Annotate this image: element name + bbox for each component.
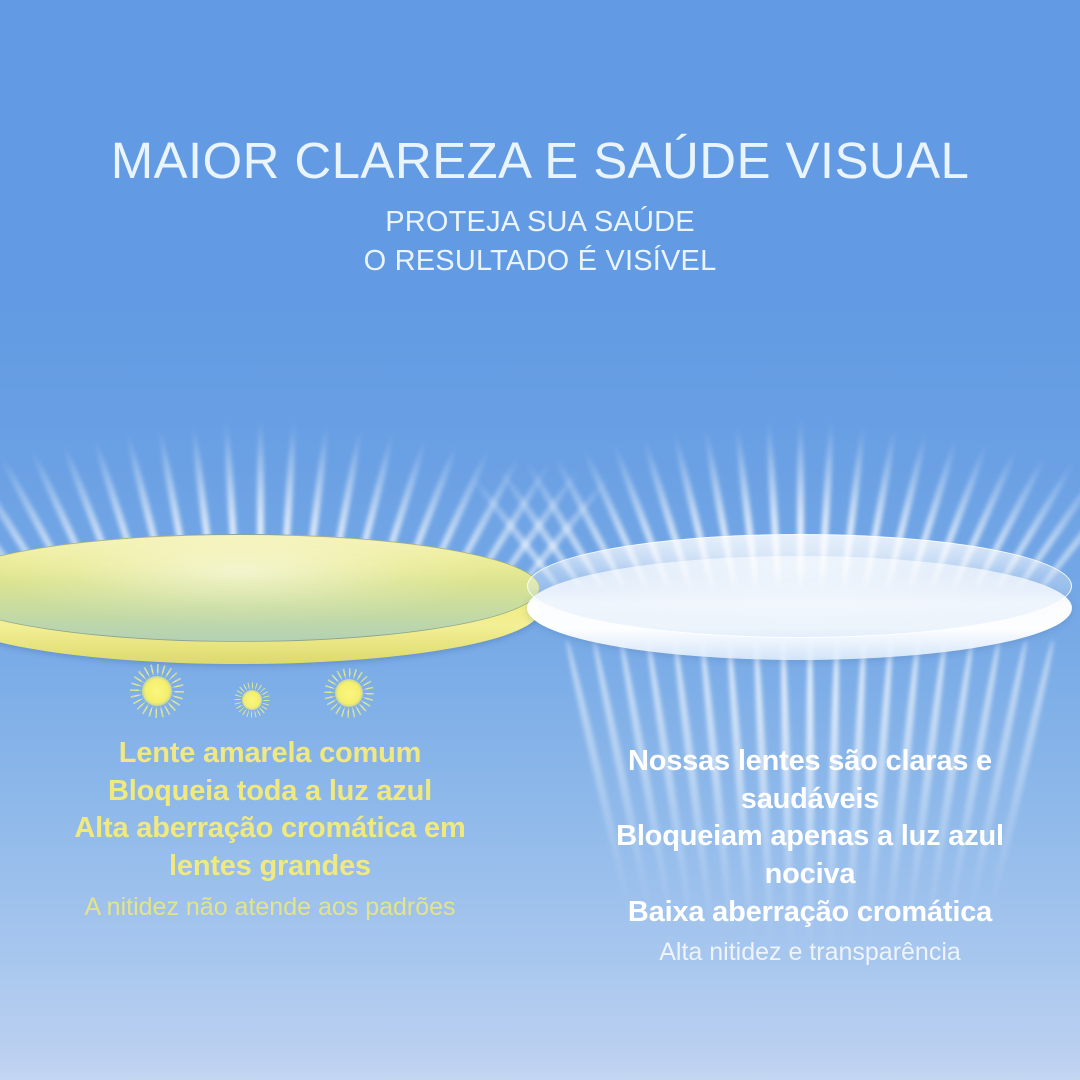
subtitle-primary: PROTEJA SUA SAÚDE bbox=[0, 206, 1080, 239]
list-item: Alta aberração cromática em bbox=[14, 810, 526, 848]
sun-icon-2 bbox=[242, 690, 262, 710]
list-item: nociva bbox=[558, 856, 1062, 894]
lens-comparison-poster: MAIOR CLAREZA E SAÚDE VISUAL PROTEJA SUA… bbox=[0, 0, 1080, 1080]
subtitle-secondary: O RESULTADO É VISÍVEL bbox=[0, 245, 1080, 278]
list-item: Bloqueia toda a luz azul bbox=[14, 773, 526, 811]
list-item: Baixa aberração cromática bbox=[558, 894, 1062, 932]
clear-lens-surface bbox=[527, 534, 1072, 638]
clear-lens-feature-list: Nossas lentes são claras e saudáveis Blo… bbox=[558, 743, 1062, 931]
comparison-column-clear-lens: Nossas lentes são claras e saudáveis Blo… bbox=[540, 735, 1080, 969]
heading-block: MAIOR CLAREZA E SAÚDE VISUAL PROTEJA SUA… bbox=[0, 135, 1080, 278]
list-item: saudáveis bbox=[558, 781, 1062, 819]
comparison-column-yellow-lens: Lente amarela comum Bloqueia toda a luz … bbox=[0, 735, 540, 969]
comparison-columns: Lente amarela comum Bloqueia toda a luz … bbox=[0, 735, 1080, 969]
sun-icon-3 bbox=[335, 679, 363, 707]
yellow-lens bbox=[0, 534, 540, 674]
yellow-lens-feature-list: Lente amarela comum Bloqueia toda a luz … bbox=[14, 735, 526, 886]
list-item: Lente amarela comum bbox=[14, 735, 526, 773]
sun-icon-1 bbox=[142, 676, 172, 706]
list-item: Bloqueiam apenas a luz azul bbox=[558, 818, 1062, 856]
list-item: lentes grandes bbox=[14, 848, 526, 886]
clear-lens-note: Alta nitidez e transparência bbox=[558, 936, 1062, 969]
page-title: MAIOR CLAREZA E SAÚDE VISUAL bbox=[0, 135, 1080, 186]
clear-lens bbox=[527, 534, 1072, 674]
list-item: Nossas lentes são claras e bbox=[558, 743, 1062, 781]
yellow-lens-note: A nitidez não atende aos padrões bbox=[14, 891, 526, 924]
